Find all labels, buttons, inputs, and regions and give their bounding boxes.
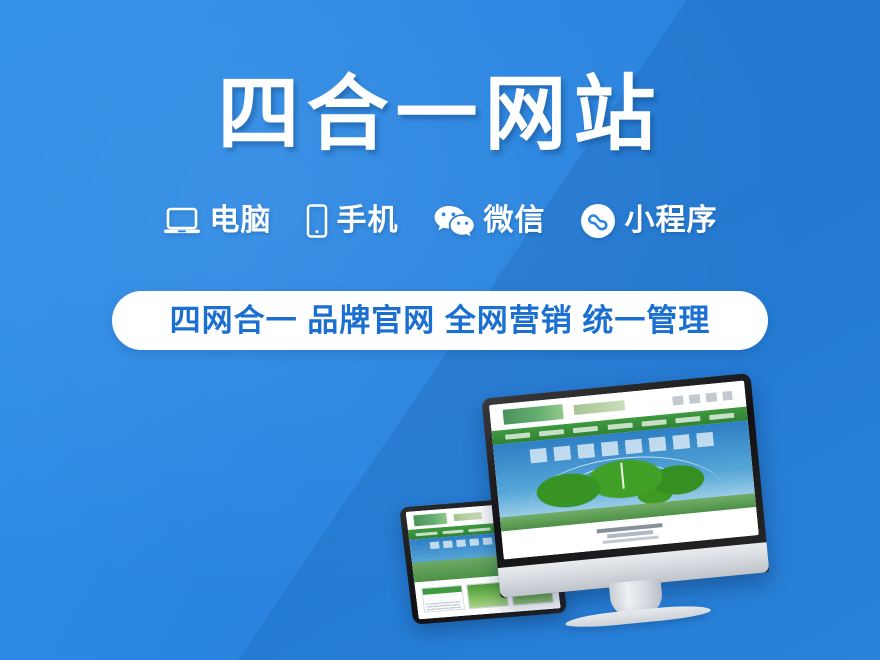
monitor-bezel — [481, 373, 769, 598]
mobile-phone-icon — [306, 204, 328, 238]
site-nav-item — [641, 419, 666, 426]
feature-pill-text: 四网合一 品牌官网 全网营销 统一管理 — [170, 305, 711, 336]
site-logo — [502, 404, 563, 425]
desktop-site-preview — [489, 381, 759, 560]
platform-label: 电脑 — [210, 206, 272, 236]
mini-program-icon — [580, 203, 616, 239]
platform-item-desktop[interactable]: 电脑 — [163, 206, 272, 236]
device-mockups — [390, 385, 790, 635]
monitor-screen — [489, 381, 759, 560]
site-logo-subtitle — [453, 512, 482, 521]
platform-label: 小程序 — [625, 206, 718, 236]
site-nav-item — [607, 422, 632, 429]
feature-pill[interactable]: 四网合一 品牌官网 全网营销 统一管理 — [112, 291, 768, 350]
site-nav-item — [675, 416, 700, 423]
site-logo-subtitle — [574, 400, 625, 415]
site-nav-item — [539, 429, 564, 436]
platform-label: 微信 — [484, 206, 546, 236]
site-nav-item — [709, 413, 734, 420]
site-nav-item — [415, 531, 437, 536]
platform-list: 电脑 手机 微信 — [0, 203, 880, 239]
banner-title: 四合一网站 — [0, 74, 880, 156]
platform-item-mini-program[interactable]: 小程序 — [580, 203, 718, 239]
site-logo — [413, 513, 447, 526]
promo-banner: 四合一网站 电脑 手机 — [0, 0, 880, 660]
platform-label: 手机 — [337, 206, 399, 236]
desktop-monitor-mockup — [481, 373, 769, 598]
site-header-links — [672, 390, 732, 405]
laptop-icon — [163, 206, 201, 236]
site-nav-item — [468, 527, 490, 532]
site-nav-item — [442, 529, 464, 534]
site-card — [421, 585, 465, 613]
wechat-icon — [433, 204, 475, 238]
site-nav-item — [505, 432, 530, 439]
platform-item-wechat[interactable]: 微信 — [433, 204, 546, 238]
site-card-lines — [426, 601, 461, 611]
platform-item-mobile[interactable]: 手机 — [306, 204, 399, 238]
site-nav-item — [573, 426, 598, 433]
